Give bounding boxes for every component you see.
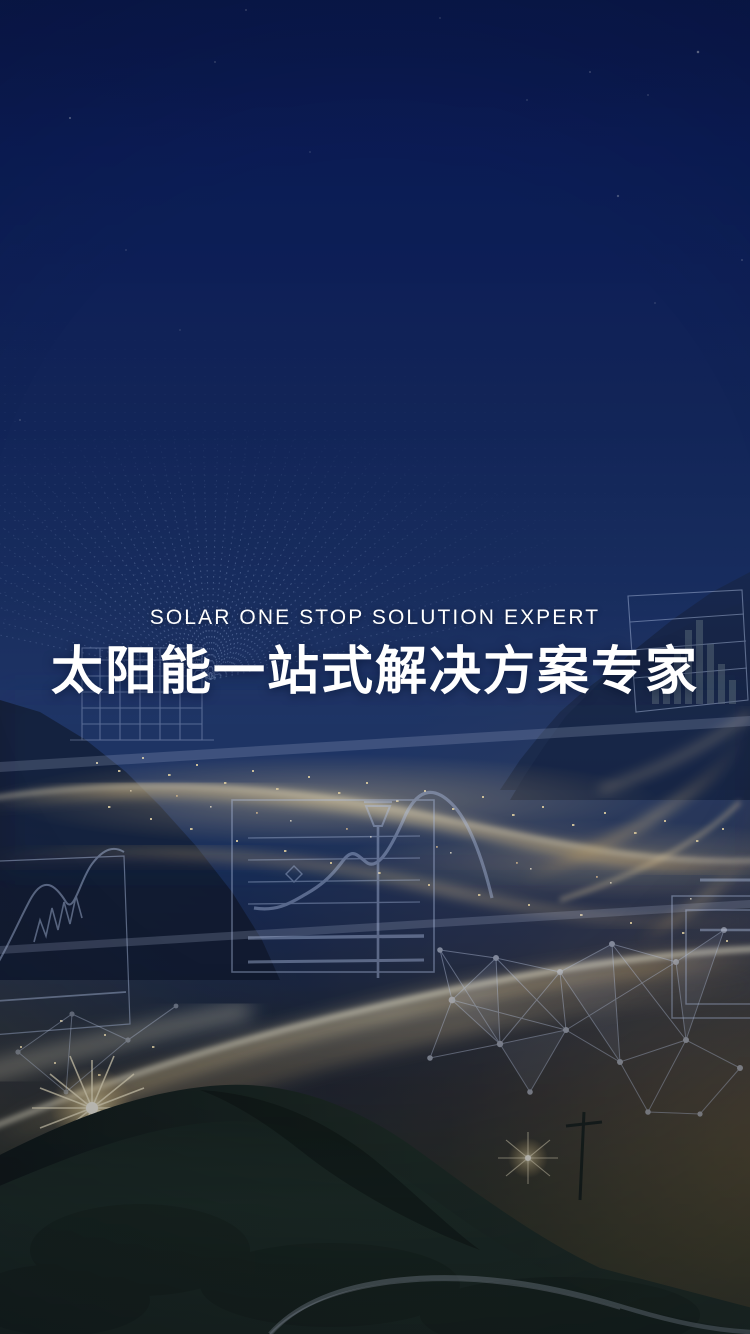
hero-headline: SOLAR ONE STOP SOLUTION EXPERT 太阳能一站式解决方… [0,604,750,703]
line-chart-panel [0,849,130,1036]
forested-hill [0,1085,750,1334]
hero-title: 太阳能一站式解决方案专家 [0,641,750,703]
right-panel-frames [672,880,750,1018]
utility-pole [566,1112,602,1200]
network-mesh-secondary [15,1004,178,1095]
left-mountain-mass [0,700,280,980]
glass-panel-sweep [0,716,750,954]
winding-road [270,1277,750,1334]
hero-banner: SOLAR ONE STOP SOLUTION EXPERT 太阳能一站式解决方… [0,0,750,1334]
network-mesh [427,927,743,1117]
lens-flare-small [498,1132,558,1184]
hero-eyebrow: SOLAR ONE STOP SOLUTION EXPERT [0,604,750,632]
highway-light-trails [0,700,750,1168]
city-lights [20,757,728,1076]
wave-chart-panel [232,792,492,978]
lens-flare-starburst [32,1056,152,1160]
